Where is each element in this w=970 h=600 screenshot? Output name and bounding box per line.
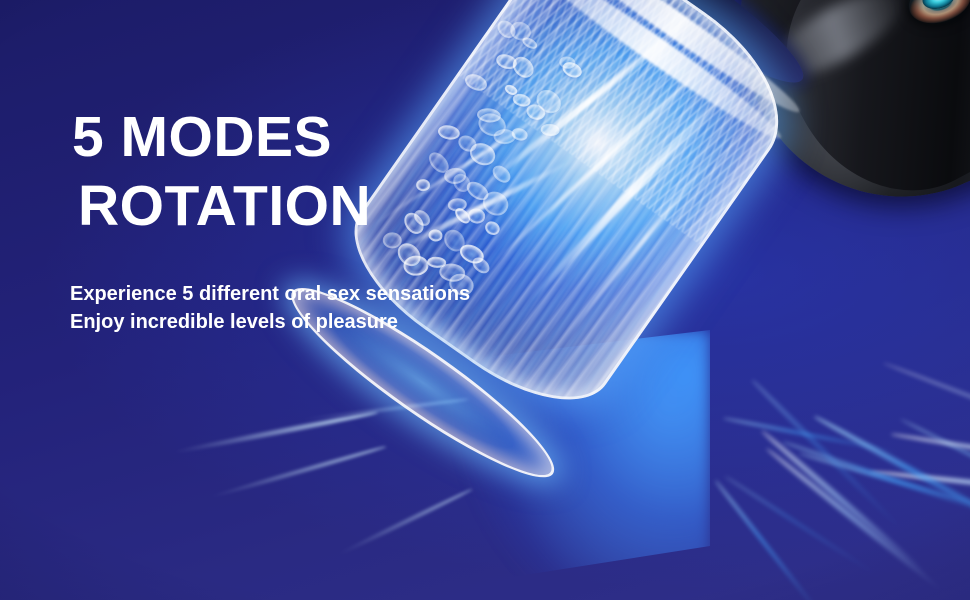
light-ray bbox=[714, 479, 824, 600]
promo-banner: 5 MODES ROTATION Experience 5 different … bbox=[0, 0, 970, 600]
page-title: 5 MODES ROTATION bbox=[72, 103, 371, 241]
sleeve-nub bbox=[462, 71, 489, 94]
sleeve-nub bbox=[403, 255, 429, 276]
headline-line-1: 5 MODES bbox=[72, 105, 332, 169]
sleeve-nub bbox=[561, 59, 585, 80]
sleeve-nub bbox=[521, 35, 539, 51]
light-ray bbox=[723, 474, 879, 577]
headline-line-2: ROTATION bbox=[72, 172, 371, 241]
light-ray bbox=[882, 361, 970, 488]
subtitle: Experience 5 different oral sex sensatio… bbox=[70, 280, 470, 336]
subtitle-line-2: Enjoy incredible levels of pleasure bbox=[70, 308, 470, 336]
subtitle-line-1: Experience 5 different oral sex sensatio… bbox=[70, 280, 470, 308]
sleeve-nub bbox=[483, 219, 502, 238]
